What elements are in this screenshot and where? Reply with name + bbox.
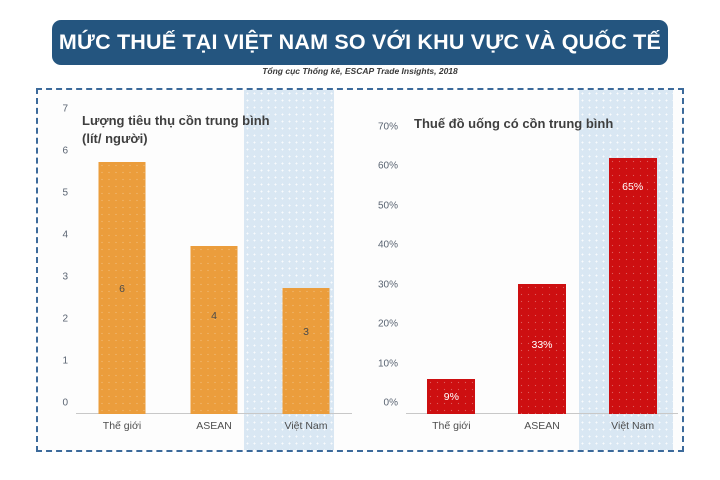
y-tick-6: 6: [62, 146, 68, 157]
y-tick-3: 3: [62, 272, 68, 283]
y-tick-20-pct: 20%: [378, 319, 398, 330]
source-citation: Tổng cục Thống kê, ESCAP Trade Insights,…: [0, 66, 720, 76]
bar-value-viet-nam-tax: 65%: [609, 181, 657, 193]
y-tick-5: 5: [62, 188, 68, 199]
bar-viet-nam-tax[interactable]: 65%: [609, 158, 657, 414]
chart-title-left-line2: (lít/ người): [82, 130, 270, 148]
chart-alcohol-consumption: Lượng tiêu thụ cồn trung bình (lít/ ngườ…: [38, 90, 362, 450]
plot-area-left: 0 1 2 3 4 5 6 7 6 Thế giới 4 ASEA: [76, 120, 352, 414]
bar-slot-the-gioi: 6 Thế giới: [76, 120, 168, 414]
bar-the-gioi[interactable]: 6: [99, 162, 146, 414]
bars-row-right: 9% Thế giới 33% ASEAN 65% Việt Nam: [406, 138, 678, 414]
y-tick-0: 0: [62, 398, 68, 409]
category-label-the-gioi: Thế giới: [76, 420, 168, 432]
bar-slot-the-gioi-tax: 9% Thế giới: [406, 138, 497, 414]
category-label-viet-nam-tax: Việt Nam: [587, 420, 678, 432]
y-tick-1: 1: [62, 356, 68, 367]
y-tick-7: 7: [62, 104, 68, 115]
bar-slot-asean-tax: 33% ASEAN: [497, 138, 588, 414]
bar-value-asean-tax: 33%: [518, 339, 566, 351]
bar-asean[interactable]: 4: [191, 246, 238, 414]
y-tick-4: 4: [62, 230, 68, 241]
chart-title-right: Thuế đồ uống có cồn trung bình: [414, 115, 613, 133]
bar-slot-viet-nam-tax: 65% Việt Nam: [587, 138, 678, 414]
plot-area-right: 0% 10% 20% 30% 40% 50% 60% 70% 9% Thế gi…: [406, 138, 678, 414]
chart-title-left: Lượng tiêu thụ cồn trung bình (lít/ ngườ…: [82, 112, 270, 147]
y-tick-2: 2: [62, 314, 68, 325]
y-tick-70-pct: 70%: [378, 122, 398, 133]
bar-value-asean: 4: [191, 310, 238, 322]
bar-viet-nam[interactable]: 3: [283, 288, 330, 414]
header-banner: MỨC THUẾ TẠI VIỆT NAM SO VỚI KHU VỰC VÀ …: [52, 20, 668, 65]
y-tick-10-pct: 10%: [378, 358, 398, 369]
category-label-the-gioi-tax: Thế giới: [406, 420, 497, 432]
category-label-asean: ASEAN: [168, 420, 260, 432]
y-tick-50-pct: 50%: [378, 200, 398, 211]
bar-value-the-gioi-tax: 9%: [427, 391, 475, 403]
bar-asean-tax[interactable]: 33%: [518, 284, 566, 414]
bar-slot-viet-nam: 3 Việt Nam: [260, 120, 352, 414]
chart-title-right-line1: Thuế đồ uống có cồn trung bình: [414, 115, 613, 133]
y-tick-60-pct: 60%: [378, 161, 398, 172]
bars-row-left: 6 Thế giới 4 ASEAN 3 Việt Nam: [76, 120, 352, 414]
y-tick-40-pct: 40%: [378, 240, 398, 251]
charts-container: Lượng tiêu thụ cồn trung bình (lít/ ngườ…: [36, 88, 684, 452]
bar-value-viet-nam: 3: [283, 326, 330, 338]
category-label-asean-tax: ASEAN: [497, 420, 588, 432]
page-title: MỨC THUẾ TẠI VIỆT NAM SO VỚI KHU VỰC VÀ …: [59, 30, 661, 55]
y-tick-0-pct: 0%: [384, 398, 398, 409]
y-tick-30-pct: 30%: [378, 279, 398, 290]
chart-title-left-line1: Lượng tiêu thụ cồn trung bình: [82, 112, 270, 130]
bar-slot-asean: 4 ASEAN: [168, 120, 260, 414]
chart-alcohol-tax: Thuế đồ uống có cồn trung bình 0% 10% 20…: [362, 90, 686, 450]
category-label-viet-nam: Việt Nam: [260, 420, 352, 432]
bar-the-gioi-tax[interactable]: 9%: [427, 379, 475, 414]
bar-value-the-gioi: 6: [99, 283, 146, 295]
